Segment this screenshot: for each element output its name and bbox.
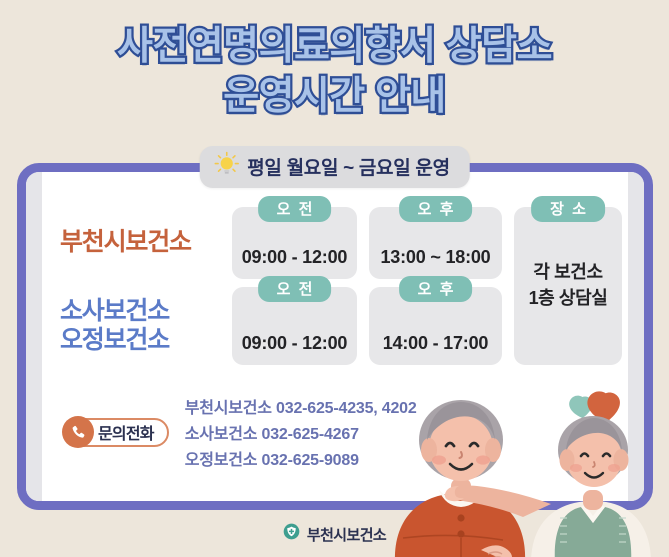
badge-morning-2: 오 전	[258, 276, 332, 302]
place-line-1: 각 보건소	[529, 260, 608, 286]
poster-canvas: 사전연명의료의향서 상담소 운영시간 안내 평일 월요일 ~ 금요일	[0, 0, 669, 557]
place-line-2: 1층 상담실	[529, 286, 608, 312]
slot-sosa-afternoon: 오 후 14:00 - 17:00	[369, 287, 502, 365]
title-line-2: 운영시간 안내	[0, 72, 669, 122]
time-sosa-morning: 09:00 - 12:00	[242, 333, 347, 354]
footer-logo: 부천시보건소	[0, 523, 669, 545]
card-body: 부천시보건소 오 전 09:00 - 12:00 오 후 13:00 ~ 18:…	[26, 172, 644, 501]
bucheon-health-center-logo-icon	[283, 523, 300, 545]
place-text: 각 보건소 1층 상담실	[529, 260, 608, 311]
badge-morning-1: 오 전	[258, 196, 332, 222]
footer-logo-text: 부천시보건소	[307, 524, 386, 545]
phone-line-sosa: 소사보건소 032-625-4267	[185, 420, 417, 444]
phone-line-bucheon: 부천시보건소 032-625-4235, 4202	[185, 394, 417, 418]
phone-line-ojeong: 오정보건소 032-625-9089	[185, 446, 417, 470]
badge-place: 장 소	[531, 196, 605, 222]
center-name-sosa-ojeong: 소사보건소 오정보건소	[52, 297, 220, 356]
phone-number-list: 부천시보건소 032-625-4235, 4202 소사보건소 032-625-…	[185, 394, 417, 470]
schedule-card-frame: 부천시보건소 오 전 09:00 - 12:00 오 후 13:00 ~ 18:…	[17, 163, 653, 510]
woman-hand	[481, 545, 512, 557]
lightbulb-icon	[213, 151, 239, 182]
title-line-1: 사전연명의료의향서 상담소	[0, 22, 669, 72]
center-name-bucheon-label: 부천시보건소	[60, 228, 220, 258]
time-sosa-afternoon: 14:00 - 17:00	[383, 333, 488, 354]
contact-section: 문의전화 부천시보건소 032-625-4235, 4202 소사보건소 032…	[66, 394, 417, 470]
badge-afternoon-1: 오 후	[399, 196, 473, 222]
phone-icon	[62, 416, 94, 448]
time-bucheon-afternoon: 13:00 ~ 18:00	[381, 247, 491, 268]
center-name-ojeong-label: 오정보건소	[60, 326, 220, 356]
slot-sosa-morning: 오 전 09:00 - 12:00	[232, 287, 357, 365]
badge-afternoon-2: 오 후	[399, 276, 473, 302]
poster-title: 사전연명의료의향서 상담소 운영시간 안내	[0, 22, 669, 122]
inquiry-phone-label: 문의전화	[98, 420, 154, 444]
slot-bucheon-afternoon: 오 후 13:00 ~ 18:00	[369, 207, 502, 279]
slot-bucheon-morning: 오 전 09:00 - 12:00	[232, 207, 357, 279]
subtitle-banner: 평일 월요일 ~ 금요일 운영	[199, 146, 470, 188]
inquiry-phone-chip[interactable]: 문의전화	[66, 418, 169, 447]
place-cell: 장 소 각 보건소 1층 상담실	[514, 207, 622, 365]
subtitle-text: 평일 월요일 ~ 금요일 운영	[247, 153, 450, 180]
schedule-grid: 부천시보건소 오 전 09:00 - 12:00 오 후 13:00 ~ 18:…	[52, 207, 618, 365]
time-bucheon-morning: 09:00 - 12:00	[242, 247, 347, 268]
center-name-sosa-label: 소사보건소	[60, 297, 220, 327]
center-name-bucheon: 부천시보건소	[52, 228, 220, 258]
